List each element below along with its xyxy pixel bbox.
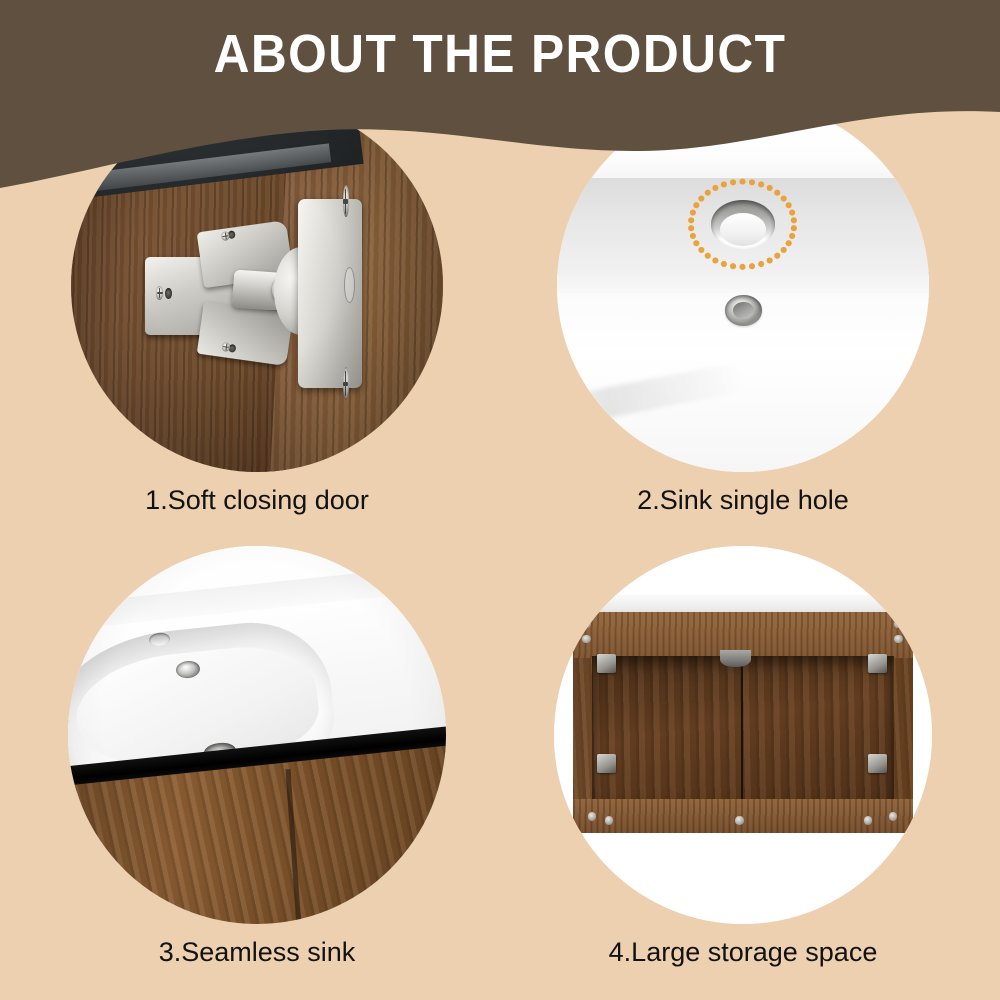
sink-single-hole-photo: [557, 100, 929, 472]
feature-item-3: 3.Seamless sink: [22, 546, 492, 986]
cabinet-screw: [735, 816, 743, 824]
feature-grid: 1.Soft closing door: [0, 0, 1000, 1000]
sink-surface-scene: [557, 100, 929, 472]
cabinet-screw: [864, 816, 872, 824]
large-storage-space-photo: [554, 546, 932, 924]
feature-caption-3: 3.Seamless sink: [22, 937, 492, 968]
feature-caption-2: 2.Sink single hole: [508, 485, 978, 516]
feature-caption-4: 4.Large storage space: [508, 937, 978, 968]
feature-caption-1: 1.Soft closing door: [22, 485, 492, 516]
seamless-sink-scene: [68, 546, 446, 924]
cabinet-hinge: [868, 654, 887, 673]
cabinet-screw: [582, 635, 590, 643]
cabinet-screw: [605, 816, 613, 824]
open-cabinet-scene: [554, 546, 932, 924]
product-feature-page: ABOUT THE PRODUCT: [0, 0, 1000, 1000]
overflow-drain-inner: [733, 302, 753, 319]
cabinet-hinge: [597, 654, 616, 673]
cabinet-screw: [894, 620, 902, 628]
overflow-drain: [725, 295, 761, 326]
photo-vignette: [71, 100, 443, 472]
hinge-scene: [71, 100, 443, 472]
highlight-dotted-circle-icon: [683, 174, 802, 274]
cabinet-screw: [588, 812, 596, 820]
feature-item-1: 1.Soft closing door: [22, 100, 492, 540]
soft-closing-hinge-photo: [71, 100, 443, 472]
sink-upper-band: [557, 100, 929, 182]
cabinet-screw: [889, 812, 897, 820]
drain-pipe: [720, 650, 750, 667]
cabinet-screw: [582, 620, 590, 628]
cabinet-bottom-rail: [573, 799, 913, 833]
cabinet-hinge: [597, 754, 616, 773]
feature-item-4: 4.Large storage space: [508, 546, 978, 986]
seamless-sink-photo: [68, 546, 446, 924]
cabinet-back-seam: [741, 656, 743, 803]
feature-item-2: 2.Sink single hole: [508, 100, 978, 540]
photo-vignette: [68, 546, 446, 924]
cabinet-screw: [894, 635, 902, 643]
cabinet-hinge: [868, 754, 887, 773]
page-title: ABOUT THE PRODUCT: [40, 22, 960, 86]
